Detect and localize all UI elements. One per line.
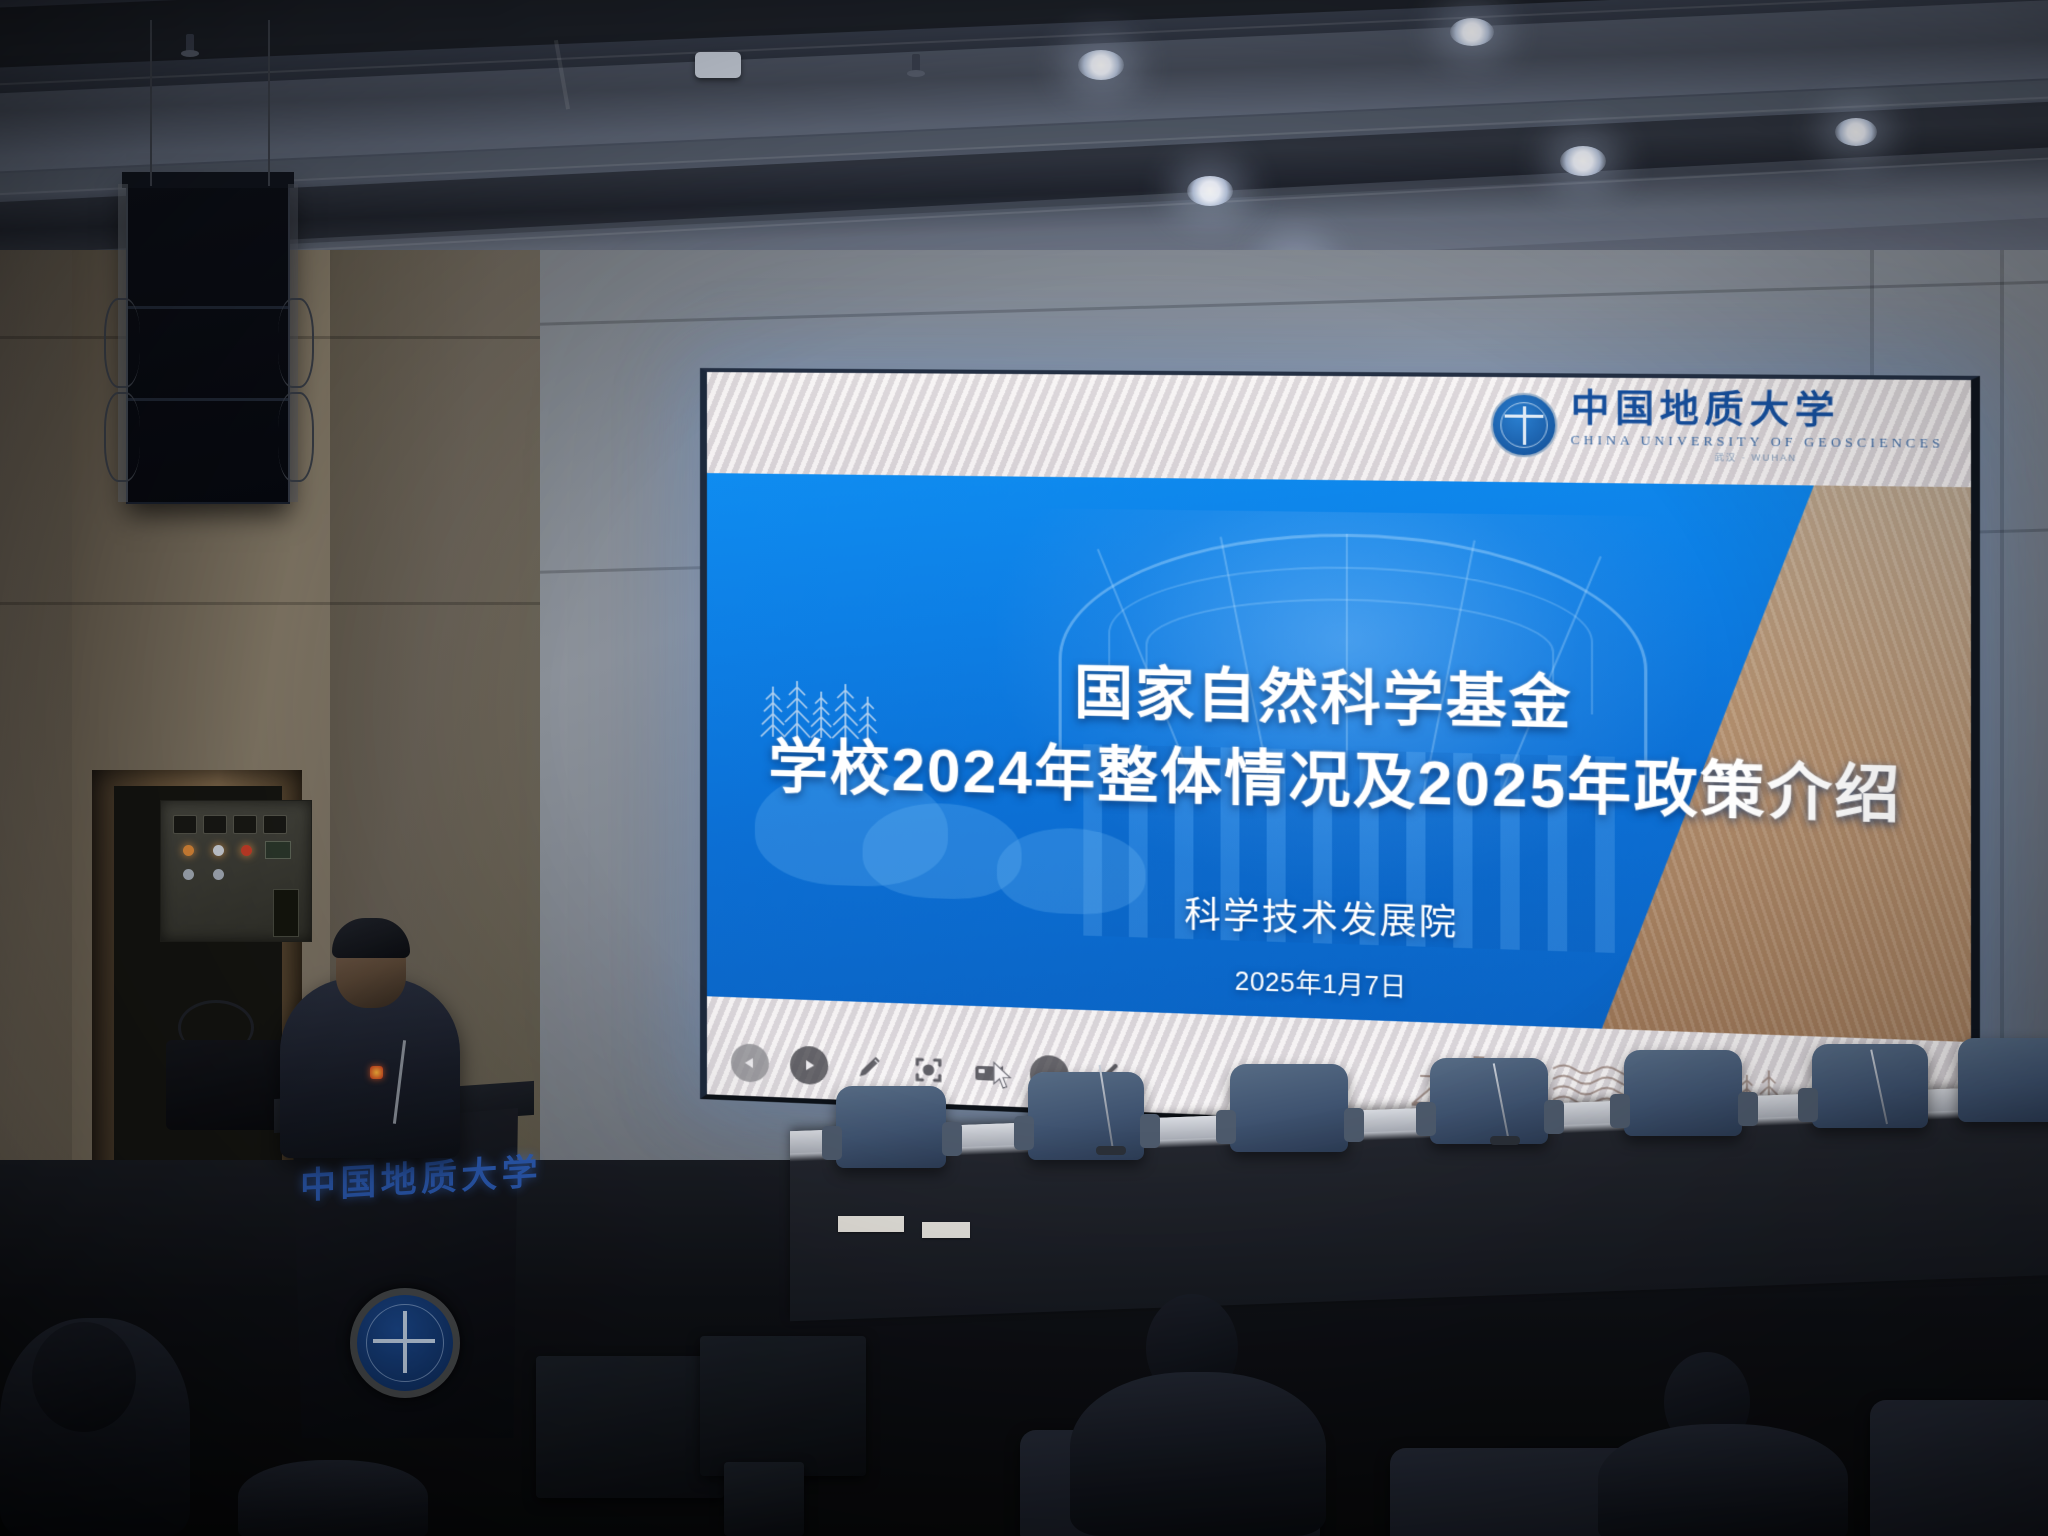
desk-paper — [838, 1216, 904, 1232]
led-presentation-screen[interactable]: 中国地质大学 CHINA UNIVERSITY OF GEOSCIENCES 武… — [700, 368, 1980, 1152]
ceiling-light — [1560, 146, 1606, 176]
next-slide-button[interactable] — [790, 1045, 828, 1085]
hanging-speaker — [126, 182, 290, 504]
indicator-light-white — [213, 869, 224, 880]
slide-body: 国家自然科学基金 学校2024年整体情况及2025年政策介绍 科学技术发展院 2… — [707, 473, 1971, 1042]
pencil-icon — [853, 1052, 883, 1083]
lapel-pin — [370, 1066, 383, 1079]
pen-annotate-button[interactable] — [849, 1048, 887, 1088]
floor-monitor-speaker — [700, 1336, 866, 1476]
dais-chair — [836, 1086, 946, 1168]
ceiling-light — [1078, 50, 1124, 80]
dais-chair — [1230, 1064, 1348, 1152]
dais-chair — [1624, 1050, 1742, 1136]
university-seal-icon — [350, 1288, 460, 1398]
logo-english-name: CHINA UNIVERSITY OF GEOSCIENCES — [1571, 434, 1944, 451]
indicator-light-amber — [183, 845, 194, 856]
smoke-detector — [695, 52, 741, 78]
desk-paper — [922, 1222, 970, 1238]
previous-slide-button[interactable] — [731, 1043, 769, 1083]
audience-person — [238, 1460, 428, 1536]
floor-monitor-speaker — [724, 1462, 804, 1536]
dais-chair — [1430, 1058, 1548, 1144]
university-logo: 中国地质大学 CHINA UNIVERSITY OF GEOSCIENCES 武… — [1491, 389, 1944, 463]
right-triangle-circle-icon — [790, 1045, 828, 1085]
microphone-base — [1096, 1146, 1126, 1155]
audience-person — [1598, 1424, 1848, 1536]
audience-seat — [1870, 1400, 2048, 1536]
floor-monitor-speaker — [536, 1356, 724, 1498]
speaker-cable-loop — [104, 392, 140, 482]
dais-chair — [1958, 1038, 2048, 1122]
speaker-cable-loop — [278, 392, 314, 482]
slide-header-band: 中国地质大学 CHINA UNIVERSITY OF GEOSCIENCES 武… — [707, 372, 1971, 487]
focus-target-icon — [913, 1054, 944, 1086]
indicator-light-white — [213, 845, 224, 856]
mouse-cursor — [992, 1061, 1015, 1092]
ceiling-light — [1187, 176, 1233, 206]
logo-chinese-name: 中国地质大学 — [1571, 390, 1944, 431]
dais-chair — [1812, 1044, 1928, 1128]
ceiling-light — [1450, 18, 1494, 46]
speaker-cable — [268, 20, 270, 186]
electrical-control-panel — [160, 800, 312, 942]
floor-equipment — [166, 1040, 286, 1130]
indicator-light-white — [183, 869, 194, 880]
left-triangle-circle-icon — [731, 1043, 769, 1083]
sprinkler-head — [186, 34, 194, 56]
microphone-base — [1490, 1136, 1520, 1145]
speaker-cable-loop — [104, 298, 140, 388]
slide-canvas: 中国地质大学 CHINA UNIVERSITY OF GEOSCIENCES 武… — [707, 372, 1971, 1146]
logo-campus: 武汉 · WUHAN — [1571, 451, 1944, 464]
audience-head — [32, 1322, 136, 1432]
indicator-light-red — [241, 845, 252, 856]
ceiling-light — [1835, 118, 1877, 146]
laser-pointer-button[interactable] — [909, 1050, 948, 1090]
dais-chair — [1028, 1072, 1144, 1160]
geoscience-shield-icon — [1491, 392, 1558, 457]
audience-person — [1070, 1372, 1326, 1536]
speaker-cable — [150, 20, 152, 186]
sprinkler-head — [912, 54, 920, 76]
lecture-hall-photo: 中国地质大学 CHINA UNIVERSITY OF GEOSCIENCES 武… — [0, 0, 2048, 1536]
speaker-cable-loop — [278, 298, 314, 388]
